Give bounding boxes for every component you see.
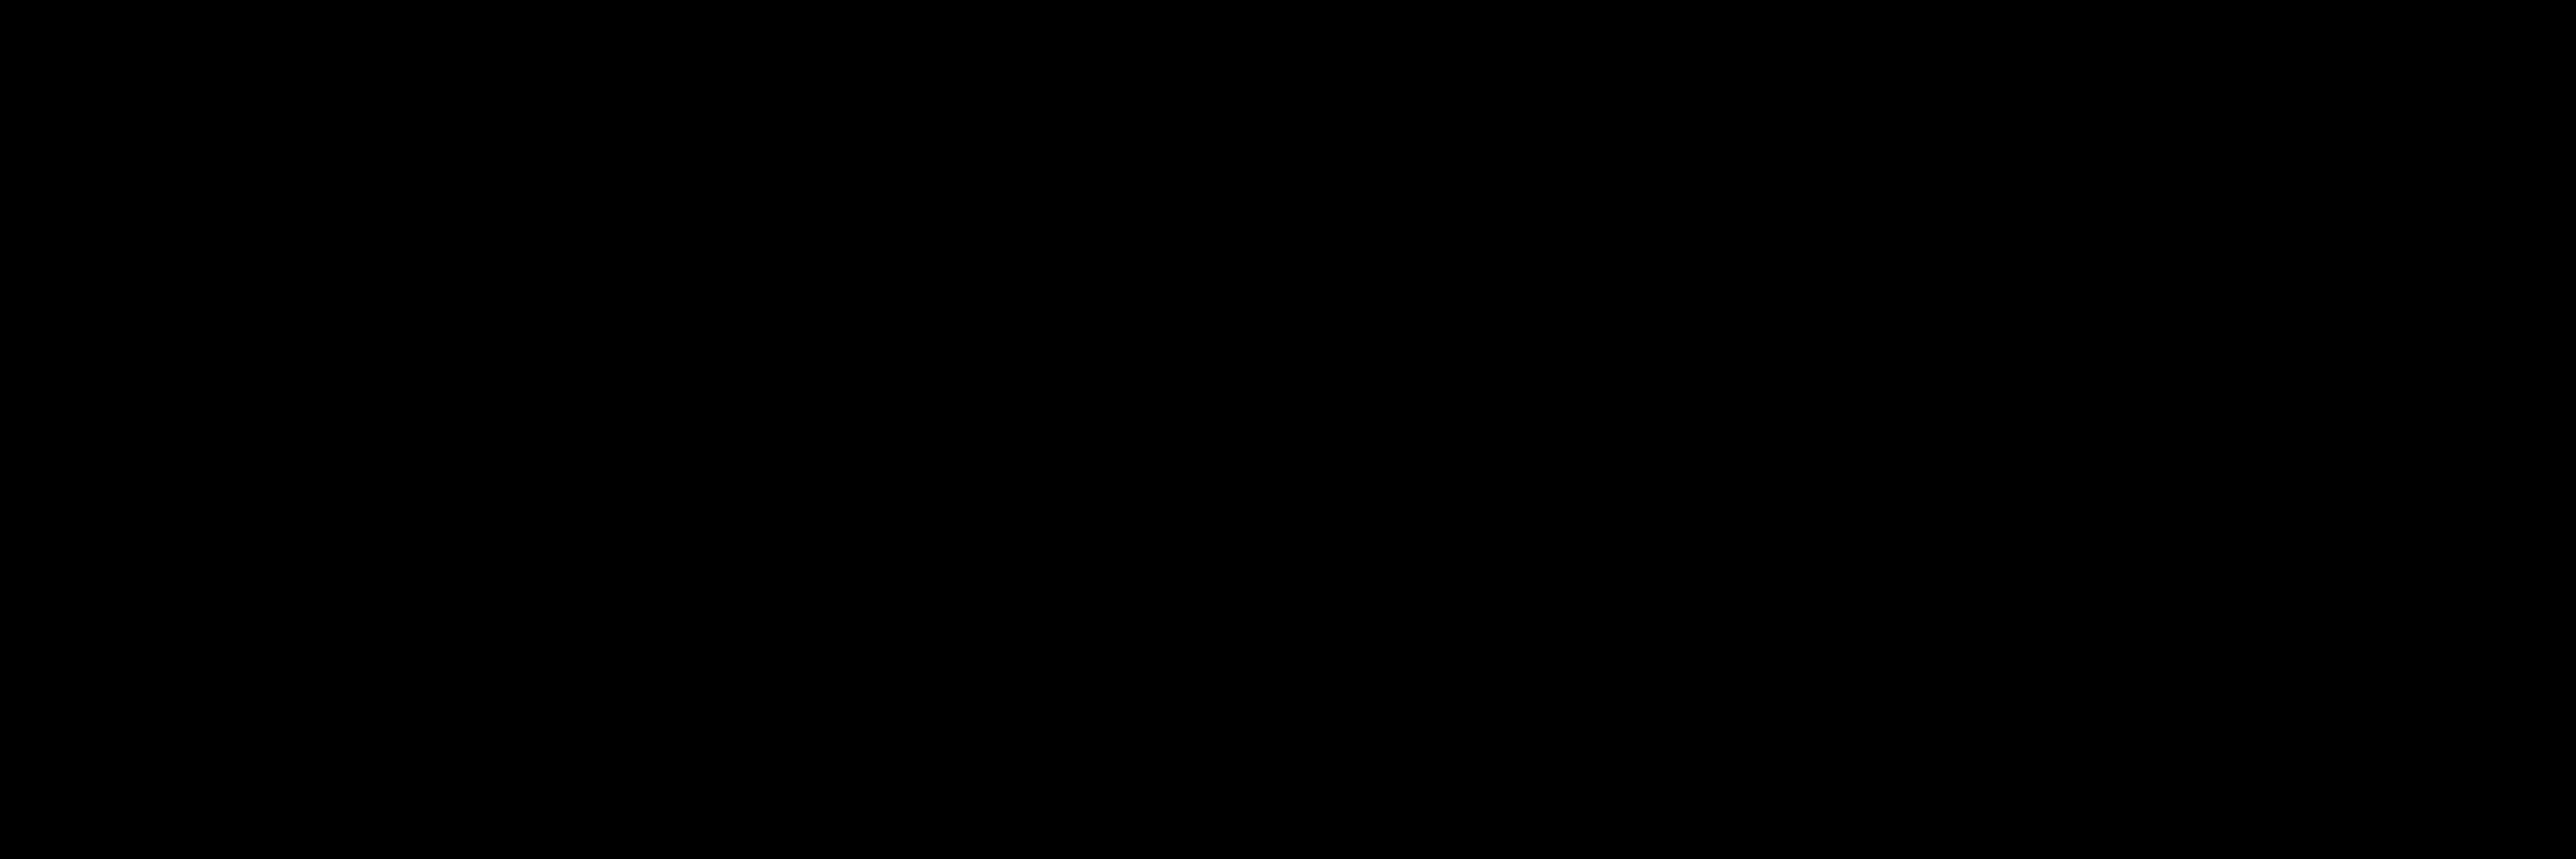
- figure-root: [0, 0, 2576, 859]
